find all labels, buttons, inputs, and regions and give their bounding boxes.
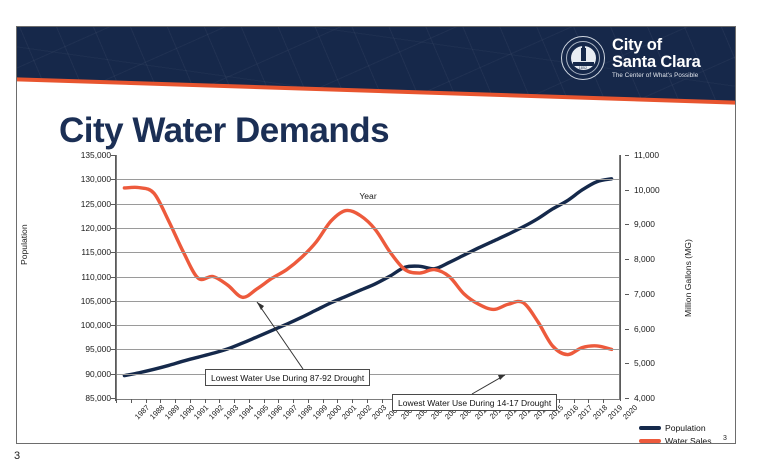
x-tick-label: 1993 <box>222 403 240 421</box>
y-tick-label: 115,000 <box>37 247 111 257</box>
y-tick-label: 110,000 <box>37 272 111 282</box>
y-axis-right-title: Million Gallons (MG) <box>683 239 693 317</box>
y2-tick-label: 5,000 <box>634 358 694 368</box>
gridline <box>117 325 619 326</box>
y2-tick-mark <box>625 155 629 156</box>
x-tick-label: 2018 <box>591 403 609 421</box>
y2-tick-mark <box>625 259 629 260</box>
y2-tick-mark <box>625 224 629 225</box>
gridline <box>117 349 619 350</box>
y-tick-label: 95,000 <box>37 344 111 354</box>
city-seal-icon: 1852 <box>561 36 605 80</box>
brand-wordmark: City of Santa Clara The Center of What's… <box>612 37 701 80</box>
x-tick-mark <box>367 399 368 403</box>
y-axis-left-ticks: 85,00090,00095,000100,000105,000110,0001… <box>35 147 111 409</box>
y2-tick-mark <box>625 294 629 295</box>
x-tick-mark <box>160 399 161 403</box>
y-tick-label: 100,000 <box>37 320 111 330</box>
y-tick-label: 90,000 <box>37 369 111 379</box>
slide-superscript-number: 3 <box>723 435 727 442</box>
legend-swatch <box>639 426 661 430</box>
x-tick-mark <box>116 399 117 403</box>
gridline <box>117 301 619 302</box>
y-tick-label: 105,000 <box>37 296 111 306</box>
y2-tick-label: 6,000 <box>634 324 694 334</box>
legend-label: Population <box>665 423 706 433</box>
x-tick-mark <box>603 399 604 403</box>
series-line-water-sales <box>124 187 611 354</box>
seal-base-shape <box>573 62 594 66</box>
x-tick-label: 2020 <box>621 403 639 421</box>
x-tick-mark <box>278 399 279 403</box>
legend-swatch <box>639 439 661 443</box>
x-tick-label: 1997 <box>281 403 299 421</box>
x-tick-label: 1994 <box>237 403 255 421</box>
x-tick-label: 1992 <box>207 403 225 421</box>
y-tick-label: 135,000 <box>37 150 111 160</box>
x-tick-label: 1989 <box>163 403 181 421</box>
brand-line-1: City of <box>612 37 701 54</box>
y-axis-left-title: Population <box>19 224 29 265</box>
chart-legend: PopulationWater Sales <box>639 423 712 444</box>
gridline <box>117 252 619 253</box>
gridline <box>117 204 619 205</box>
annotation-drought-14-17: Lowest Water Use During 14-17 Drought <box>392 394 557 411</box>
brand-tagline: The Center of What's Possible <box>612 73 701 79</box>
x-tick-mark <box>175 399 176 403</box>
x-tick-mark <box>559 399 560 403</box>
legend-item: Population <box>639 423 712 433</box>
x-tick-mark <box>293 399 294 403</box>
x-tick-mark <box>249 399 250 403</box>
slide-header: 1852 City of Santa Clara The Center of W… <box>17 27 735 109</box>
x-tick-mark <box>337 399 338 403</box>
gridline <box>117 277 619 278</box>
x-tick-mark <box>352 399 353 403</box>
chart-container: 85,00090,00095,000100,000105,000110,0001… <box>35 147 719 437</box>
x-tick-label: 1988 <box>148 403 166 421</box>
city-logo: 1852 City of Santa Clara The Center of W… <box>561 36 701 80</box>
x-tick-mark <box>190 399 191 403</box>
gridline <box>117 179 619 180</box>
seal-inner-disc: 1852 <box>571 46 596 70</box>
legend-label: Water Sales <box>665 436 712 444</box>
x-tick-label: 1998 <box>296 403 314 421</box>
x-tick-mark <box>308 399 309 403</box>
brand-line-2: Santa Clara <box>612 54 701 71</box>
x-tick-mark <box>219 399 220 403</box>
page-number: 3 <box>14 450 20 462</box>
x-tick-mark <box>382 399 383 403</box>
x-tick-mark <box>588 399 589 403</box>
seal-year-label: 1852 <box>571 66 596 70</box>
x-tick-label: 2001 <box>340 403 358 421</box>
y-tick-label: 130,000 <box>37 174 111 184</box>
x-tick-label: 2002 <box>355 403 373 421</box>
x-tick-mark <box>234 399 235 403</box>
page-title: City Water Demands <box>59 111 389 151</box>
y-tick-label: 120,000 <box>37 223 111 233</box>
x-tick-mark <box>131 399 132 403</box>
y-tick-label: 85,000 <box>37 393 111 403</box>
y2-tick-mark <box>625 398 629 399</box>
annotation-drought-87-92: Lowest Water Use During 87-92 Drought <box>205 369 370 386</box>
x-tick-mark <box>146 399 147 403</box>
y2-tick-mark <box>625 329 629 330</box>
slide-frame: 1852 City of Santa Clara The Center of W… <box>16 26 736 444</box>
x-axis-title: Year <box>35 191 701 201</box>
x-tick-mark <box>574 399 575 403</box>
screenshot-page: 1852 City of Santa Clara The Center of W… <box>0 0 768 473</box>
y2-tick-mark <box>625 363 629 364</box>
x-tick-mark <box>264 399 265 403</box>
y2-tick-label: 9,000 <box>634 219 694 229</box>
y-axis-right-ticks: 4,0005,0006,0007,0008,0009,00010,00011,0… <box>625 147 705 409</box>
y2-tick-label: 4,000 <box>634 393 694 403</box>
gridline <box>117 228 619 229</box>
x-tick-mark <box>205 399 206 403</box>
legend-item: Water Sales <box>639 436 712 444</box>
x-tick-label: 2019 <box>606 403 624 421</box>
x-tick-mark <box>323 399 324 403</box>
seal-tower-shape <box>581 48 586 61</box>
y2-tick-label: 11,000 <box>634 150 694 160</box>
